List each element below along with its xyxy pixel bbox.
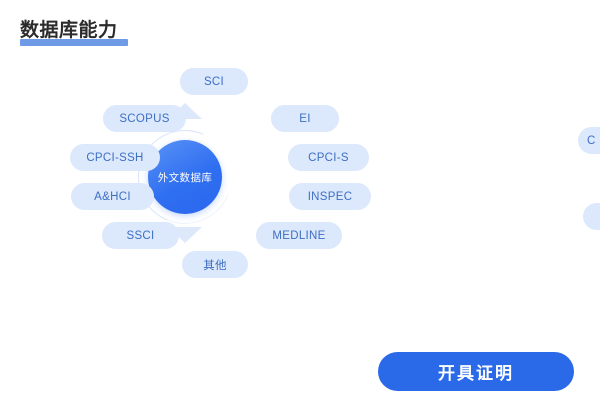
diagram-node-sci[interactable]: SCI [180, 68, 248, 95]
diagram-node-label: CPCI-SSH [86, 152, 143, 164]
diagram-node-other[interactable]: 其他 [182, 251, 248, 278]
diagram-node-ssci[interactable]: SSCI [102, 222, 179, 249]
diagram-node-scopus[interactable]: SCOPUS [103, 105, 186, 132]
diagram-node-cpci-s[interactable]: CPCI-S [288, 144, 369, 171]
diagram-center-node[interactable]: 外文数据库 [148, 140, 222, 214]
page-title-text: 数据库能力 [20, 18, 118, 44]
diagram-node-cpci-ssh[interactable]: CPCI-SSH [70, 144, 160, 171]
adjacent-diagram-node-partial-2[interactable] [583, 203, 600, 230]
database-capability-diagram: 外文数据库 SCI SCOPUS CPCI-SSH A&HCI SSCI 其他 … [55, 55, 385, 295]
adjacent-diagram-node-label: C [587, 135, 595, 147]
page-root: 数据库能力 外文数据库 SCI SCOPUS CPCI-SSH A&HCI SS… [0, 0, 600, 400]
diagram-node-label: INSPEC [308, 191, 353, 203]
diagram-center-label: 外文数据库 [158, 170, 213, 185]
diagram-node-ei[interactable]: EI [271, 105, 339, 132]
diagram-node-label: CPCI-S [308, 152, 349, 164]
diagram-node-label: SSCI [126, 230, 154, 242]
issue-certificate-button[interactable]: 开具证明 [378, 352, 574, 391]
diagram-node-label: MEDLINE [272, 230, 325, 242]
page-title: 数据库能力 [20, 18, 118, 50]
diagram-node-ahci[interactable]: A&HCI [71, 183, 154, 210]
diagram-node-medline[interactable]: MEDLINE [256, 222, 342, 249]
diagram-node-label: 其他 [203, 257, 227, 273]
diagram-node-label: SCOPUS [119, 113, 169, 125]
adjacent-diagram-node-partial-1[interactable]: C [578, 127, 600, 154]
diagram-node-label: EI [299, 113, 310, 125]
diagram-node-inspec[interactable]: INSPEC [289, 183, 371, 210]
diagram-node-label: SCI [204, 76, 224, 88]
diagram-node-label: A&HCI [94, 191, 131, 203]
